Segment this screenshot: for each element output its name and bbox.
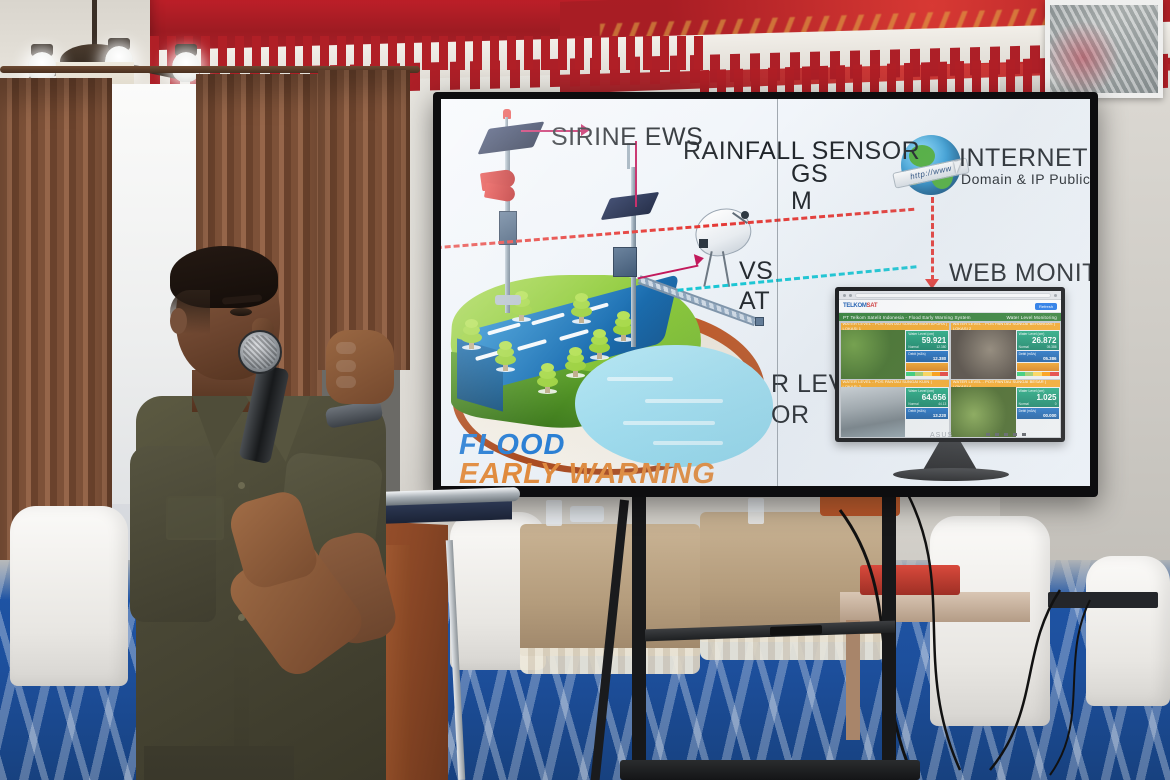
framed-wall-art	[1045, 0, 1163, 98]
legend-safe	[1017, 372, 1025, 376]
panel-stats: Water Level (cm) 1.025 Normal0 Debit (m3…	[1016, 387, 1060, 436]
panel-title: WATER LEVEL - POS PANTAU SUNGAI KUIN | L…	[841, 380, 950, 387]
brand-line-flood: FLOOD	[459, 429, 566, 461]
status-card	[1017, 363, 1059, 371]
slide-canvas: http://www SIRINE EWS RAINFALL SENSOR GS…	[441, 99, 1090, 486]
monitor-panel[interactable]: WATER LEVEL - POS PANTAU SUNGAI MARTAPUR…	[841, 323, 950, 379]
label-vsat: VS AT	[739, 256, 773, 316]
solar-panel-siren	[478, 122, 545, 155]
slide-brand-title: FLOOD EARLY WARNING	[459, 429, 566, 462]
presenter-eye	[230, 308, 252, 316]
label-internet-subtitle: Domain & IP Public	[961, 171, 1090, 187]
internet-to-monitor-line	[931, 197, 934, 281]
chandelier-rod	[92, 0, 97, 46]
metric-label: Water Level (cm)	[908, 332, 946, 336]
ticker-left-text: PT Telkom Satelit Indonesia - Flood Earl…	[843, 315, 971, 320]
sensor-cabinet	[613, 247, 637, 277]
monitor-panel[interactable]: WATER LEVEL - POS PANTAU SUNGAI BESAR | …	[951, 380, 1060, 436]
drinking-glass-1	[546, 500, 562, 526]
red-fringe-left	[150, 36, 710, 70]
monitor-brand-label: ASUS	[930, 432, 953, 439]
panel-body: Water Level (cm) 1.025 Normal0 Debit (m3…	[951, 387, 1060, 436]
metric-value: 64.656	[908, 393, 946, 402]
metric-value: 1.025	[1019, 393, 1057, 402]
monitor-stand-foot	[893, 468, 1009, 481]
legend-danger	[1050, 372, 1058, 376]
microphone-head	[238, 330, 282, 374]
chair-cover-1	[10, 506, 128, 686]
metric-label: Water Level (cm)	[1019, 389, 1057, 393]
tv-stand-post-left	[632, 497, 646, 780]
secondary-value: 00.000	[1019, 413, 1057, 418]
water-wave-3	[623, 421, 715, 425]
monitor-panel[interactable]: WATER LEVEL - POS PANTAU SUNGAI KUIN | L…	[841, 380, 950, 436]
panel-stats: Water Level (cm) 59.921 Normal12.380 Deb…	[905, 330, 949, 379]
tree	[589, 329, 610, 359]
discharge-card: Debit (m3/s) 12.380	[906, 351, 948, 362]
secondary-value: 05.386	[1019, 356, 1057, 361]
legend-warn	[923, 372, 931, 376]
water-level-card: Water Level (cm) 1.025 Normal0	[1017, 388, 1059, 407]
glass-tray	[570, 506, 604, 522]
panel-body: Water Level (cm) 64.656 Normal44.13 Debi…	[841, 387, 950, 436]
metric-label: Water Level (cm)	[1019, 332, 1057, 336]
tree	[571, 293, 592, 323]
solar-panel-sensor	[601, 192, 660, 220]
status-card	[906, 363, 948, 371]
water-level-card: Water Level (cm) 59.921 Normal12.380	[906, 331, 948, 350]
dashboard-viewport: TELKOMSAT Refresh PT Telkom Satelit Indo…	[839, 291, 1061, 438]
siren-base-plate	[495, 295, 521, 305]
water-wave-2	[645, 399, 723, 403]
dish-feed-horn	[741, 211, 749, 219]
metric-subrow: Normal44.13	[908, 402, 946, 406]
browser-back-icon[interactable]	[843, 294, 846, 297]
shirt-pocket-left	[166, 496, 224, 540]
tree	[537, 363, 558, 393]
flood-water-body	[575, 345, 773, 467]
water-wave-1	[607, 377, 673, 381]
dashboard-header: TELKOMSAT Refresh	[839, 300, 1061, 313]
discharge-card: Debit (m3/s) 05.386	[1017, 351, 1059, 362]
legend-warn	[1033, 372, 1041, 376]
dashboard-logo: TELKOMSAT	[843, 303, 877, 309]
panel-body: Water Level (cm) 26.872 Normal05.386 Deb…	[951, 330, 1060, 379]
tree	[565, 347, 586, 377]
browser-url-bar[interactable]	[855, 293, 1051, 298]
camera-panel-grid: WATER LEVEL - POS PANTAU SUNGAI MARTAPUR…	[839, 321, 1061, 438]
brand-line-early-warning: EARLY WARNING	[459, 458, 716, 486]
metric-subrow: Normal12.380	[908, 345, 946, 349]
monitor-osd-buttons[interactable]	[986, 433, 1026, 436]
water-level-sensor-head	[755, 317, 764, 326]
label-gsm: GS M	[791, 161, 828, 215]
screen-bezel-seam	[777, 99, 778, 486]
metric-value: 59.921	[908, 336, 946, 345]
presenter-raised-fist	[326, 330, 394, 404]
label-web-monitor: WEB MONITOR	[949, 259, 1090, 288]
camera-feed[interactable]	[951, 387, 1016, 436]
monitor-panel[interactable]: WATER LEVEL - POS PANTAU SUNGAI BERANGAS…	[951, 323, 1060, 379]
tree	[461, 319, 482, 349]
legend-danger	[940, 372, 948, 376]
tree	[495, 341, 516, 371]
panel-body: Water Level (cm) 59.921 Normal12.380 Deb…	[841, 330, 950, 379]
panel-title: WATER LEVEL - POS PANTAU SUNGAI BESAR | …	[951, 380, 1060, 387]
discharge-card: Debit (m3/s) 00.000	[1017, 408, 1059, 419]
presentation-display: http://www SIRINE EWS RAINFALL SENSOR GS…	[433, 92, 1098, 497]
panel-title: WATER LEVEL - POS PANTAU SUNGAI BERANGAS…	[951, 323, 1060, 330]
label-sirine-ews: SIRINE EWS	[551, 123, 703, 152]
metric-subrow: Normal05.386	[1019, 345, 1057, 349]
presenter	[130, 246, 430, 780]
dish-lnb	[699, 239, 708, 248]
water-level-card: Water Level (cm) 26.872 Normal05.386	[1017, 331, 1059, 350]
tv-stand-base	[620, 760, 920, 780]
legend-low	[1025, 372, 1033, 376]
browser-toolbar[interactable]	[839, 291, 1061, 300]
curtain-panel-left	[0, 78, 112, 580]
vsat-leader-arrow	[694, 252, 705, 266]
metric-subrow: Normal0	[1019, 402, 1057, 406]
threshold-legend	[906, 372, 948, 376]
shirt-button-1	[238, 482, 245, 489]
web-monitor-screen: TELKOMSAT Refresh PT Telkom Satelit Indo…	[835, 287, 1065, 442]
artwork-canvas	[1050, 5, 1158, 93]
water-level-card: Water Level (cm) 64.656 Normal44.13	[906, 388, 948, 407]
tv-stand-post-right	[882, 497, 896, 780]
secondary-value: 13.220	[908, 413, 946, 418]
browser-forward-icon[interactable]	[849, 294, 852, 297]
camera-feed[interactable]	[951, 330, 1016, 379]
panel-stats: Water Level (cm) 64.656 Normal44.13 Debi…	[905, 387, 949, 436]
threshold-legend	[1017, 372, 1059, 376]
phone-on-shelf	[770, 625, 822, 636]
water-wave-4	[653, 441, 723, 445]
presenter-trousers	[144, 746, 294, 780]
legend-alert	[1042, 372, 1050, 376]
dashboard-ticker: PT Telkom Satelit Indonesia - Flood Earl…	[839, 313, 1061, 321]
panel-stats: Water Level (cm) 26.872 Normal05.386 Deb…	[1016, 330, 1060, 379]
legend-alert	[932, 372, 940, 376]
label-internet: INTERNET	[959, 144, 1088, 173]
monitor-stand-neck	[923, 442, 977, 470]
presentation-room-photo: http://www SIRINE EWS RAINFALL SENSOR GS…	[0, 0, 1170, 780]
legend-low	[915, 372, 923, 376]
discharge-card: Debit (m3/s) 13.220	[906, 408, 948, 419]
refresh-button[interactable]: Refresh	[1035, 303, 1057, 310]
browser-menu-icon[interactable]	[1054, 294, 1057, 297]
panel-title: WATER LEVEL - POS PANTAU SUNGAI MARTAPUR…	[841, 323, 950, 330]
metric-value: 26.872	[1019, 336, 1057, 345]
secondary-value: 12.380	[908, 356, 946, 361]
metric-label: Water Level (cm)	[908, 389, 946, 393]
camera-feed[interactable]	[841, 387, 906, 436]
legend-safe	[906, 372, 914, 376]
camera-feed[interactable]	[841, 330, 906, 379]
ticker-right-text: Water Level Monitoring	[1006, 315, 1057, 320]
presenter-ear	[170, 308, 187, 334]
